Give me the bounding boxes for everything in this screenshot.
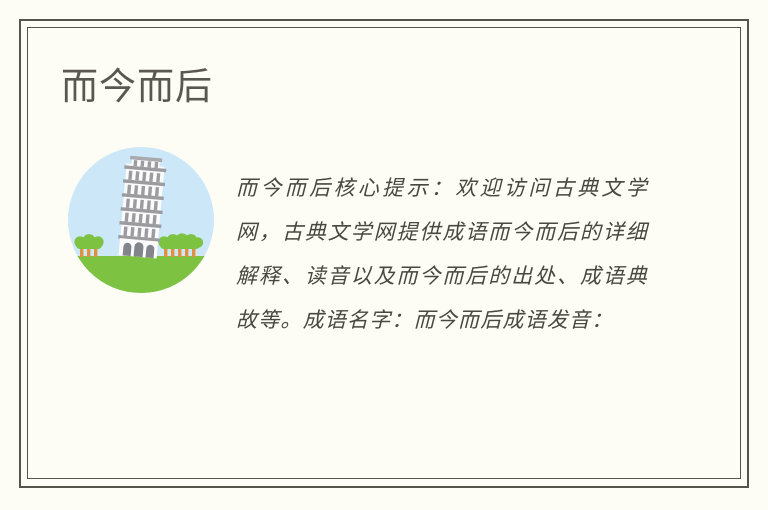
page-root: 而今而后 bbox=[0, 0, 768, 510]
illustration-svg bbox=[68, 147, 214, 293]
article-body-text: 而今而后核心提示：欢迎访问古典文学网，古典文学网提供成语而今而后的详细解释、读音… bbox=[236, 166, 648, 342]
page-title: 而今而后 bbox=[61, 64, 213, 110]
leaning-tower-of-pisa-illustration bbox=[68, 147, 214, 293]
grass-shape bbox=[68, 256, 214, 293]
